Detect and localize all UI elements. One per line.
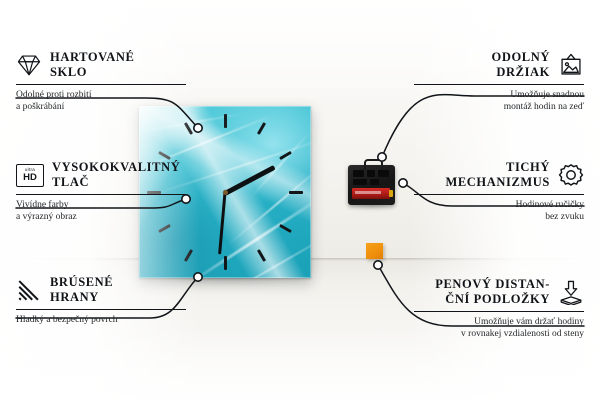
feature-desc-line-2: montáž hodin na zeď (414, 101, 584, 113)
feature-desc-line-2: a výrazný obraz (16, 211, 186, 223)
bevelled-edges-icon (16, 277, 42, 303)
connector-node-5 (399, 179, 407, 187)
ultra-hd-icon-main: HD (23, 173, 37, 183)
feature-desc-line-1: Hodinové ručičky (414, 199, 584, 211)
ultra-hd-icon: ultra HD (16, 164, 44, 187)
feature-title-line-1: PENOVÝ DISTAN- (435, 277, 550, 292)
feature-tempered-glass: HARTOVANÉ SKLO Odolné proti rozbití a po… (16, 50, 186, 113)
connector-node-4 (378, 153, 386, 161)
feature-desc-line-1: Umožňuje snadnou (414, 89, 584, 101)
feature-divider (414, 194, 584, 195)
product-infographic: HARTOVANÉ SKLO Odolné proti rozbití a po… (0, 0, 600, 400)
feature-title-line-2: TLAČ (52, 175, 180, 190)
feature-desc-line-1: Odolné proti rozbití (16, 89, 186, 101)
feature-title-line-1: ODOLNÝ (492, 50, 550, 65)
feature-title-line-1: VYSOKOKVALITNÝ (52, 160, 180, 175)
connector-node-3 (194, 273, 202, 281)
feature-foam-spacers: PENOVÝ DISTAN- ČNÍ PODLOŽKY Umožňuje vám… (414, 277, 584, 340)
feature-title-line-2: HRANY (50, 290, 113, 305)
feature-desc-line-1: Umožňuje vám držať hodiny (414, 316, 584, 328)
picture-hanger-icon (558, 52, 584, 78)
feature-desc-line-1: Hladký a bezpečný povrch (16, 314, 186, 326)
feature-title-line-2: MECHANIZMUS (445, 175, 550, 190)
feature-title-line-2: SKLO (50, 65, 134, 80)
feature-desc-line-2: bez zvuku (414, 211, 584, 223)
feature-print-quality: ultra HD VYSOKOKVALITNÝ TLAČ Vivídne far… (16, 160, 186, 223)
feature-desc-line-1: Vivídne farby (16, 199, 186, 211)
connector-node-1 (194, 124, 202, 132)
feature-bevelled-edges: BRÚSENÉ HRANY Hladký a bezpečný povrch (16, 275, 186, 326)
gear-icon (558, 162, 584, 188)
feature-divider (414, 84, 584, 85)
feature-durable-hanger: ODOLNÝ DRŽIAK Umožňuje snadnou montáž ho… (414, 50, 584, 113)
feature-divider (16, 84, 186, 85)
feature-divider (16, 309, 186, 310)
feature-title-line-1: TICHÝ (445, 160, 550, 175)
feature-divider (16, 194, 186, 195)
feature-title-line-2: DRŽIAK (492, 65, 550, 80)
feature-title-line-1: HARTOVANÉ (50, 50, 134, 65)
feature-desc-line-2: v rovnakej vzdialenosti od steny (414, 328, 584, 340)
diamond-icon (16, 52, 42, 78)
feature-silent-mechanism: TICHÝ MECHANIZMUS Hodinové ručičky bez z… (414, 160, 584, 223)
feature-divider (414, 311, 584, 312)
feature-desc-line-2: a poškrábání (16, 101, 186, 113)
connector-node-6 (374, 261, 382, 269)
feature-title-line-2: ČNÍ PODLOŽKY (435, 292, 550, 307)
feature-title-line-1: BRÚSENÉ (50, 275, 113, 290)
foam-spacer-icon (558, 279, 584, 305)
